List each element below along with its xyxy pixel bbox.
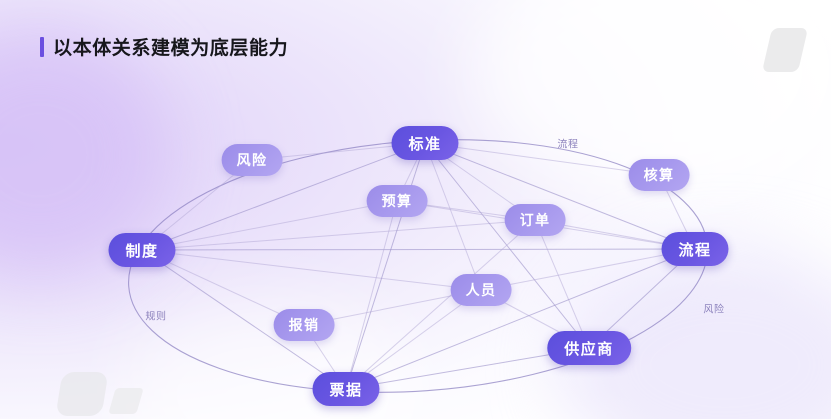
graph-edge	[346, 201, 397, 389]
graph-edge-label-guize-label: 规则	[145, 308, 166, 323]
graph-node-biaozhun[interactable]: 标准	[391, 126, 458, 160]
slide-canvas: 以本体关系建模为底层能力 制度标准流程票据供应商风险预算订单核算人员报销 流程风…	[0, 0, 831, 419]
graph-node-renyuan[interactable]: 人员	[451, 274, 512, 306]
graph-node-gongyingshang[interactable]: 供应商	[547, 331, 631, 365]
graph-edge	[535, 220, 589, 348]
graph-node-yusuan[interactable]: 预算	[367, 185, 428, 217]
graph-edge	[346, 249, 695, 389]
graph-edge	[142, 250, 481, 290]
graph-node-piaoju[interactable]: 票据	[312, 372, 379, 406]
graph-node-fengxian[interactable]: 风险	[222, 144, 283, 176]
graph-edge	[346, 220, 535, 389]
graph-edge	[425, 143, 659, 175]
graph-node-hesuan[interactable]: 核算	[629, 159, 690, 191]
graph-node-dingdan[interactable]: 订单	[505, 204, 566, 236]
graph-edge	[346, 143, 425, 389]
graph-node-baoxiao[interactable]: 报销	[274, 309, 335, 341]
graph-edge	[425, 143, 481, 290]
graph-edge	[142, 249, 695, 250]
graph-node-liucheng[interactable]: 流程	[661, 232, 728, 266]
graph-edge	[142, 220, 535, 250]
graph-edge-label-fengxian-label: 风险	[703, 301, 724, 316]
graph-node-zhidu[interactable]: 制度	[108, 233, 175, 267]
graph-edge-label-liucheng-label: 流程	[557, 136, 578, 151]
